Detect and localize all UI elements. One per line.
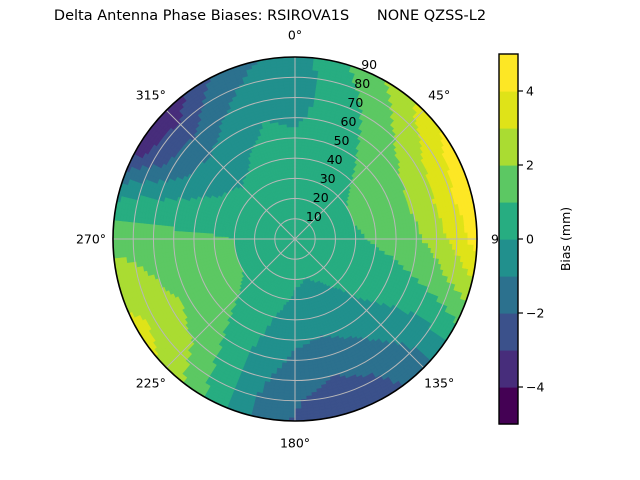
colorbar-band-5 [499,202,518,240]
colorbar-tick-label-0: −4 [526,380,544,395]
colorbar-band-7 [499,128,518,166]
azimuth-tick-label-45: 45° [428,87,450,102]
radial-tick-label-80: 80 [354,76,370,91]
azimuth-tick-label-225: 225° [136,376,166,391]
polar-grid [113,57,477,421]
radial-tick-label-40: 40 [327,152,343,167]
colorbar-band-6 [499,165,518,203]
colorbar-band-4 [499,239,518,277]
radial-tick-label-70: 70 [347,95,363,110]
radial-tick-label-20: 20 [313,190,329,205]
azimuth-tick-label-180: 180° [280,436,310,451]
azimuth-tick-label-315: 315° [136,87,166,102]
azimuth-tick-label-270: 270° [76,232,106,247]
colorbar-band-3 [499,276,518,314]
colorbar: −4−2024Bias (mm) [499,54,573,425]
azimuth-tick-label-135: 135° [424,376,454,391]
colorbar-axis-label: Bias (mm) [558,207,573,271]
colorbar-band-1 [499,350,518,388]
figure-canvas: Delta Antenna Phase Biases: RSIROVA1S NO… [0,0,640,480]
radial-tick-label-90: 90 [361,57,377,72]
colorbar-band-8 [499,91,518,129]
radial-tick-label-50: 50 [334,133,350,148]
radial-tick-label-10: 10 [306,209,322,224]
colorbar-tick-label-3: 2 [526,158,534,173]
azimuth-tick-label-0: 0° [288,28,302,43]
colorbar-band-0 [499,387,518,425]
colorbar-tick-label-1: −2 [526,306,544,321]
polar-plot-svg: 0°45°90135°180°225°270°315° 102030405060… [0,0,640,480]
colorbar-tick-label-2: 0 [526,232,534,247]
colorbar-band-9 [499,54,518,92]
colorbar-tick-label-4: 4 [526,84,534,99]
radial-tick-label-60: 60 [341,114,357,129]
radial-tick-label-30: 30 [320,171,336,186]
colorbar-band-2 [499,313,518,351]
